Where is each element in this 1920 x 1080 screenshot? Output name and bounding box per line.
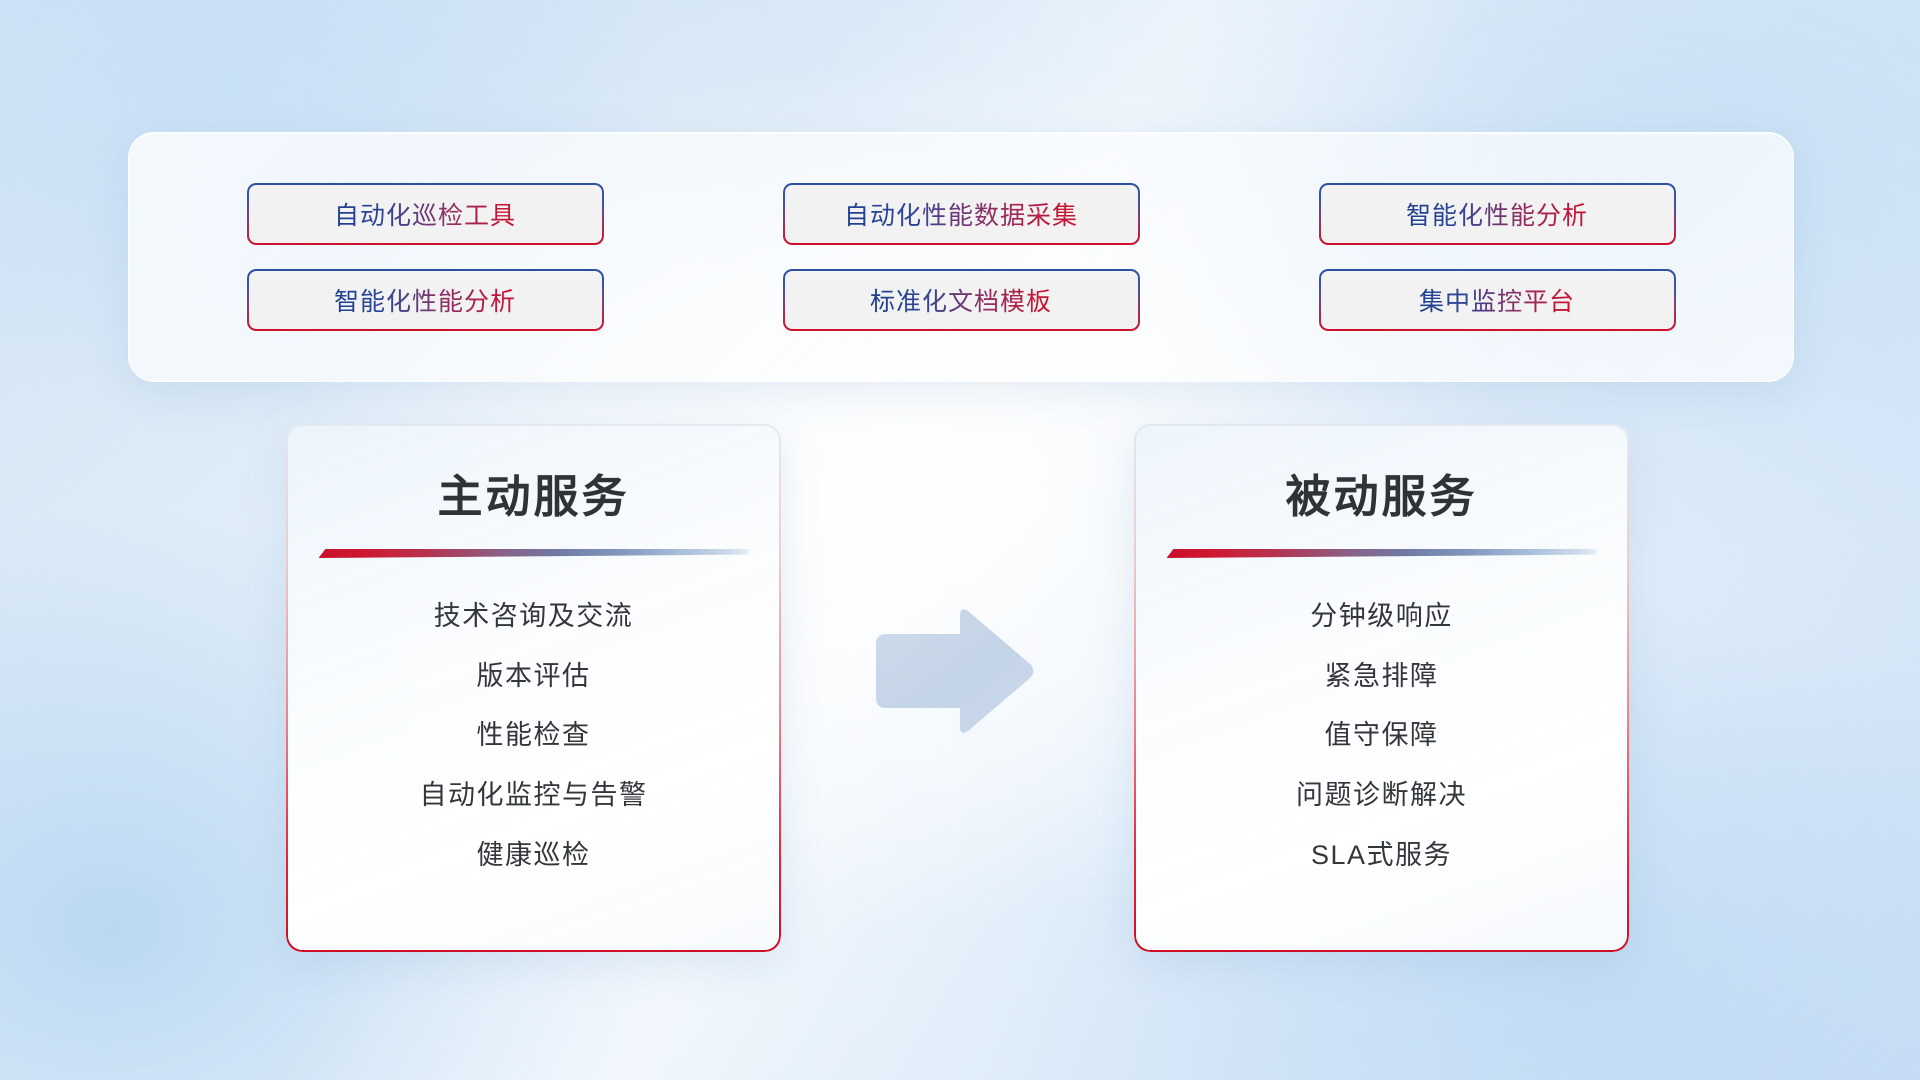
capability-tag[interactable]: 智能化性能分析 [1319,183,1676,245]
service-item-list: 分钟级响应 紧急排障 值守保障 问题诊断解决 SLA式服务 [1134,602,1629,870]
card-title: 主动服务 [286,460,781,525]
service-item: 问题诊断解决 [1296,781,1467,811]
capability-tag[interactable]: 标准化文档模板 [783,269,1140,331]
capability-tag-label: 自动化巡检工具 [334,196,516,232]
capability-tag-label: 标准化文档模板 [870,282,1052,318]
service-item: 技术咨询及交流 [434,602,634,632]
service-item: 版本评估 [477,662,591,692]
capability-tag-row-1: 自动化巡检工具 自动化性能数据采集 智能化性能分析 [157,183,1765,245]
service-item-list: 技术咨询及交流 版本评估 性能检查 自动化监控与告警 健康巡检 [286,602,781,870]
service-item: 紧急排障 [1325,662,1439,692]
service-item: 值守保障 [1325,721,1439,751]
capability-tag-label: 自动化性能数据采集 [844,196,1078,232]
service-item: SLA式服务 [1311,841,1452,871]
capability-tag-label: 智能化性能分析 [1406,196,1588,232]
service-item: 性能检查 [477,721,591,751]
slide-canvas: 自动化巡检工具 自动化性能数据采集 智能化性能分析 智能化性能分析 标准化文档模… [0,0,1920,1080]
card-divider [319,549,749,558]
service-card-reactive: 被动服务 分钟级响应 紧急排障 值守保障 问题诊断解决 SLA式服务 [1134,424,1629,952]
service-item: 分钟级响应 [1310,602,1453,632]
capability-tag-row-2: 智能化性能分析 标准化文档模板 集中监控平台 [157,269,1765,331]
capability-tag-label: 集中监控平台 [1419,282,1575,318]
card-divider [1167,549,1597,558]
capability-tag[interactable]: 智能化性能分析 [247,269,604,331]
capability-tag[interactable]: 集中监控平台 [1319,269,1676,331]
capability-tag[interactable]: 自动化巡检工具 [247,183,604,245]
service-card-proactive: 主动服务 技术咨询及交流 版本评估 性能检查 自动化监控与告警 健康巡检 [286,424,781,952]
card-title: 被动服务 [1134,460,1629,525]
capability-tag-panel: 自动化巡检工具 自动化性能数据采集 智能化性能分析 智能化性能分析 标准化文档模… [128,132,1794,382]
service-item: 健康巡检 [477,841,591,871]
service-item: 自动化监控与告警 [420,781,648,811]
capability-tag-label: 智能化性能分析 [334,282,516,318]
arrow-right-icon [868,606,1036,736]
capability-tag[interactable]: 自动化性能数据采集 [783,183,1140,245]
